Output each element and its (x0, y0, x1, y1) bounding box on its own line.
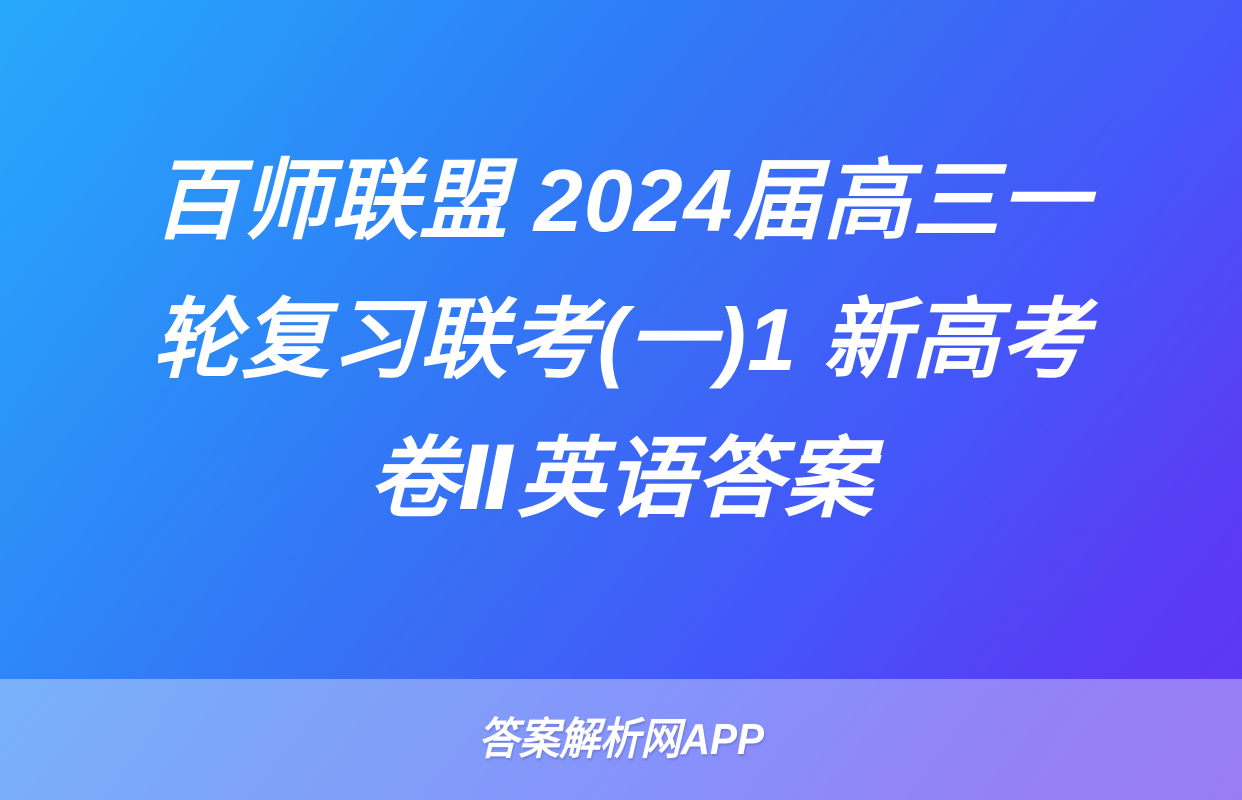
site-watermark: 答案解析网APP (478, 718, 764, 762)
title-area: 百师联盟 2024届高三一 轮复习联考(一)1 新高考 卷Ⅱ英语答案 (0, 0, 1242, 679)
answer-cover-card: 百师联盟 2024届高三一 轮复习联考(一)1 新高考 卷Ⅱ英语答案 答案解析网… (0, 0, 1242, 800)
page-title: 百师联盟 2024届高三一 轮复习联考(一)1 新高考 卷Ⅱ英语答案 (42, 131, 1200, 548)
watermark-band: 答案解析网APP (0, 679, 1242, 800)
